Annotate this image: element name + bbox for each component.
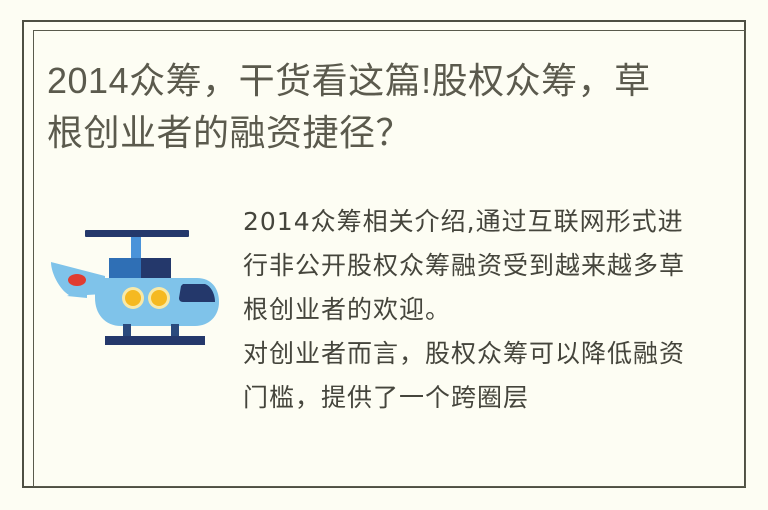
helicopter-illustration xyxy=(47,218,227,358)
article-paragraph-1: 2014众筹相关介绍,通过互联网形式进行非公开股权众筹融资受到越来越多草根创业者… xyxy=(243,200,707,332)
skid-strut-left xyxy=(123,324,131,338)
cabin-window-2-inner xyxy=(151,290,167,306)
article-title-text: 2014众筹，干货看这篇!股权众筹，草根创业者的融资捷径？ xyxy=(47,55,687,159)
tail-light xyxy=(68,274,86,286)
article-content: 2014众筹相关介绍,通过互联网形式进行非公开股权众筹融资受到越来越多草根创业者… xyxy=(47,200,707,470)
helicopter-icon xyxy=(47,218,227,358)
engine-housing-left xyxy=(109,258,141,278)
article-card: 2014众筹，干货看这篇!股权众筹，草根创业者的融资捷径？ xyxy=(0,0,768,510)
rotor-blade xyxy=(85,230,189,237)
cabin-window-1-inner xyxy=(125,290,141,306)
page-title: 2014众筹，干货看这篇!股权众筹，草根创业者的融资捷径？ xyxy=(47,55,687,159)
illustration-column xyxy=(47,200,237,358)
article-paragraph-2: 对创业者而言，股权众筹可以降低融资门槛，提供了一个跨圈层 xyxy=(243,332,707,420)
article-body: 2014众筹相关介绍,通过互联网形式进行非公开股权众筹融资受到越来越多草根创业者… xyxy=(237,200,707,462)
landing-skid xyxy=(105,336,205,345)
engine-housing-right xyxy=(141,258,171,278)
rotor-mast xyxy=(131,237,141,259)
skid-strut-right xyxy=(171,324,179,338)
